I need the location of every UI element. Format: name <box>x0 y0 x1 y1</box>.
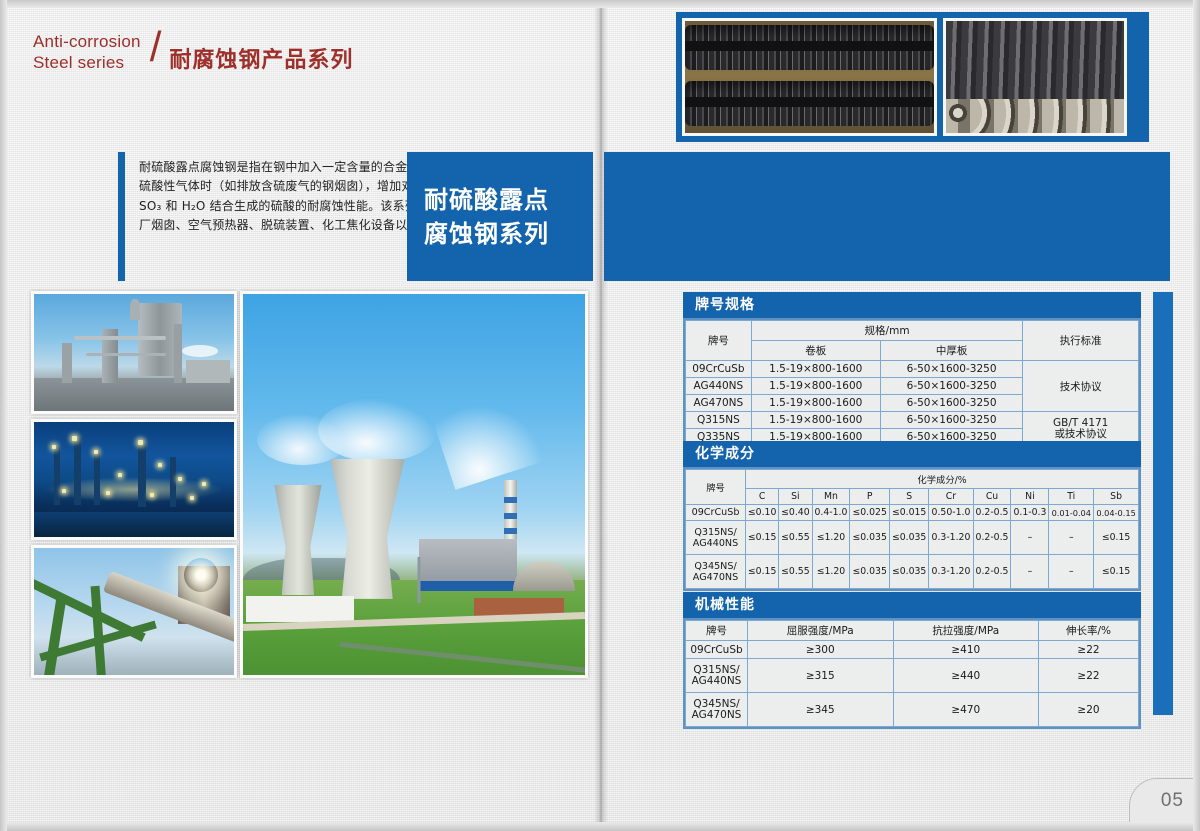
cell-brand: Q315NS <box>686 412 752 429</box>
photo-refinery-at-night <box>31 419 237 540</box>
th-brand: 牌号 <box>686 321 752 361</box>
th-tensile: 抗拉强度/MPa <box>893 621 1039 641</box>
cell-value: 0.3-1.20 <box>929 555 973 589</box>
cell-elongation: ≥20 <box>1039 693 1139 727</box>
cell-plate: 6-50×1600-3250 <box>880 378 1023 395</box>
cell-value: – <box>1049 521 1094 555</box>
product-image-strip <box>676 12 1149 142</box>
section-mech-title: 机械性能 <box>683 592 1141 618</box>
cell-plate: 6-50×1600-3250 <box>880 395 1023 412</box>
table-row-header: 牌号 规格/mm 执行标准 <box>686 321 1139 341</box>
photo-finned-tube-closeup <box>682 18 937 136</box>
cell-value: ≤0.035 <box>889 521 928 555</box>
table-mech: 牌号 屈服强度/MPa 抗拉强度/MPa 伸长率/% 09CrCuSb ≥300… <box>685 620 1139 727</box>
photo-finned-tube-bundle <box>943 18 1127 136</box>
th-chem-group: 化学成分/% <box>746 470 1139 489</box>
section-spec: 牌号规格 牌号 规格/mm 执行标准 卷板 中厚板 09CrCuSb 1.5-1… <box>683 292 1141 448</box>
cell-elongation: ≥22 <box>1039 641 1139 659</box>
header-chinese: 耐腐蚀钢产品系列 <box>169 49 353 73</box>
table-row: Q315NS 1.5-19×800-1600 6-50×1600-3250 GB… <box>686 412 1139 429</box>
cell-value: ≤0.10 <box>746 505 779 521</box>
cell-value: 0.2-0.5 <box>973 521 1011 555</box>
th-element-s: S <box>889 489 928 505</box>
cell-tensile: ≥470 <box>893 693 1039 727</box>
cell-value: 0.1-0.3 <box>1011 505 1049 521</box>
photo-coal-power-plant <box>240 291 588 678</box>
cell-value: ≤0.15 <box>1094 521 1139 555</box>
section-chem-title: 化学成分 <box>683 441 1141 467</box>
catalog-spread: Anti-corrosionSteel series / 耐腐蚀钢产品系列 耐硫… <box>0 0 1200 831</box>
cell-value: 0.01-0.04 <box>1049 505 1094 521</box>
cell-value: – <box>1049 555 1094 589</box>
description-accent-bar <box>118 152 125 281</box>
th-spec-group: 规格/mm <box>751 321 1023 341</box>
cell-value: ≤0.15 <box>1094 555 1139 589</box>
cell-brand-line2: AG470NS <box>692 709 742 721</box>
cell-value: ≤1.20 <box>812 555 850 589</box>
th-coil: 卷板 <box>751 341 880 361</box>
cell-value: ≤0.025 <box>850 505 889 521</box>
cell-elongation: ≥22 <box>1039 659 1139 693</box>
th-standard: 执行标准 <box>1023 321 1139 361</box>
cell-brand: 09CrCuSb <box>686 505 746 521</box>
table-spec: 牌号 规格/mm 执行标准 卷板 中厚板 09CrCuSb 1.5-19×800… <box>685 320 1139 446</box>
series-title-line2: 腐蚀钢系列 <box>424 217 593 251</box>
cell-tensile: ≥410 <box>893 641 1039 659</box>
cell-yield: ≥345 <box>748 693 894 727</box>
cell-value: 0.2-0.5 <box>973 505 1011 521</box>
th-element-c: C <box>746 489 779 505</box>
right-accent-bar <box>1153 292 1173 715</box>
th-elongation: 伸长率/% <box>1039 621 1139 641</box>
header-slash: / <box>150 28 162 66</box>
cell-yield: ≥315 <box>748 659 894 693</box>
cell-brand-line2: AG470NS <box>693 572 738 583</box>
th-element-si: Si <box>779 489 812 505</box>
cell-brand: AG440NS <box>686 378 752 395</box>
th-element-ti: Ti <box>1049 489 1094 505</box>
header-english: Anti-corrosionSteel series <box>33 31 141 73</box>
th-element-cu: Cu <box>973 489 1011 505</box>
cell-brand: 09CrCuSb <box>686 361 752 378</box>
th-brand: 牌号 <box>686 470 746 505</box>
th-yield: 屈服强度/MPa <box>748 621 894 641</box>
table-row: Q345NS/AG470NS ≤0.15 ≤0.55 ≤1.20 ≤0.035 … <box>686 555 1139 589</box>
cell-coil: 1.5-19×800-1600 <box>751 361 880 378</box>
table-row-header: 牌号 化学成分/% <box>686 470 1139 489</box>
cell-plate: 6-50×1600-3250 <box>880 361 1023 378</box>
cell-coil: 1.5-19×800-1600 <box>751 378 880 395</box>
cell-value: ≤0.15 <box>746 555 779 589</box>
book-gutter <box>594 0 608 831</box>
th-brand: 牌号 <box>686 621 748 641</box>
cell-coil: 1.5-19×800-1600 <box>751 395 880 412</box>
blue-banner <box>604 152 1170 281</box>
cell-value: ≤0.55 <box>779 521 812 555</box>
section-mech: 机械性能 牌号 屈服强度/MPa 抗拉强度/MPa 伸长率/% 09CrCuSb… <box>683 592 1141 729</box>
series-title-box: 耐硫酸露点 腐蚀钢系列 <box>407 152 593 281</box>
page-number-corner: 05 <box>1129 778 1193 822</box>
cell-value: 0.2-0.5 <box>973 555 1011 589</box>
table-row-header: 牌号 屈服强度/MPa 抗拉强度/MPa 伸长率/% <box>686 621 1139 641</box>
cell-value: ≤1.20 <box>812 521 850 555</box>
photo-chemical-plant-daylight <box>31 291 237 414</box>
th-plate: 中厚板 <box>880 341 1023 361</box>
page-edge-bottom <box>0 822 1200 831</box>
table-row-subheader: C Si Mn P S Cr Cu Ni Ti Sb <box>686 489 1139 505</box>
page-edge-left <box>0 0 7 831</box>
cell-brand-line2: AG440NS <box>693 538 738 549</box>
cell-value: 0.3-1.20 <box>929 521 973 555</box>
cell-value: – <box>1011 521 1049 555</box>
cell-standard: 技术协议 <box>1023 361 1139 412</box>
th-element-ni: Ni <box>1011 489 1049 505</box>
cell-brand-line2: AG440NS <box>692 675 742 687</box>
photo-steel-structure-sun <box>31 545 237 678</box>
cell-value: ≤0.035 <box>889 555 928 589</box>
table-row: Q315NS/AG440NS ≥315 ≥440 ≥22 <box>686 659 1139 693</box>
page-number: 05 <box>1161 790 1184 812</box>
table-row: 09CrCuSb ≤0.10 ≤0.40 0.4-1.0 ≤0.025 ≤0.0… <box>686 505 1139 521</box>
page-edge-top <box>0 0 1200 8</box>
cell-value: ≤0.035 <box>850 521 889 555</box>
cell-brand-line1: Q345NS/ <box>694 561 736 572</box>
th-element-mn: Mn <box>812 489 850 505</box>
cell-plate: 6-50×1600-3250 <box>880 412 1023 429</box>
cell-brand: Q345NS/AG470NS <box>686 555 746 589</box>
cell-value: ≤0.40 <box>779 505 812 521</box>
th-element-cr: Cr <box>929 489 973 505</box>
table-chem: 牌号 化学成分/% C Si Mn P S Cr Cu Ni Ti Sb 09C… <box>685 469 1139 589</box>
cell-yield: ≥300 <box>748 641 894 659</box>
page-edge-right <box>1193 0 1200 831</box>
cell-brand: Q345NS/AG470NS <box>686 693 748 727</box>
cell-brand: AG470NS <box>686 395 752 412</box>
page-title-header: Anti-corrosionSteel series / 耐腐蚀钢产品系列 <box>33 31 353 73</box>
table-row: Q315NS/AG440NS ≤0.15 ≤0.55 ≤1.20 ≤0.035 … <box>686 521 1139 555</box>
cell-brand-line1: Q315NS/ <box>694 527 736 538</box>
table-row: Q345NS/AG470NS ≥345 ≥470 ≥20 <box>686 693 1139 727</box>
cell-coil: 1.5-19×800-1600 <box>751 412 880 429</box>
cell-value: ≤0.035 <box>850 555 889 589</box>
table-row: 09CrCuSb 1.5-19×800-1600 6-50×1600-3250 … <box>686 361 1139 378</box>
th-element-p: P <box>850 489 889 505</box>
section-spec-title: 牌号规格 <box>683 292 1141 318</box>
cell-brand: Q315NS/AG440NS <box>686 659 748 693</box>
series-title-line1: 耐硫酸露点 <box>424 183 593 217</box>
cell-value: 0.50-1.0 <box>929 505 973 521</box>
table-row: 09CrCuSb ≥300 ≥410 ≥22 <box>686 641 1139 659</box>
cell-value: 0.04-0.15 <box>1094 505 1139 521</box>
cell-value: – <box>1011 555 1049 589</box>
cell-brand: Q315NS/AG440NS <box>686 521 746 555</box>
header-english-line2: Steel series <box>33 53 124 72</box>
cell-value: 0.4-1.0 <box>812 505 850 521</box>
cell-brand: 09CrCuSb <box>686 641 748 659</box>
th-element-sb: Sb <box>1094 489 1139 505</box>
cell-tensile: ≥440 <box>893 659 1039 693</box>
section-chem: 化学成分 牌号 化学成分/% C Si Mn P S Cr Cu Ni Ti S… <box>683 441 1141 591</box>
cell-value: ≤0.015 <box>889 505 928 521</box>
header-english-line1: Anti-corrosion <box>33 32 141 51</box>
cell-value: ≤0.15 <box>746 521 779 555</box>
cell-value: ≤0.55 <box>779 555 812 589</box>
photo-collage <box>31 291 593 678</box>
